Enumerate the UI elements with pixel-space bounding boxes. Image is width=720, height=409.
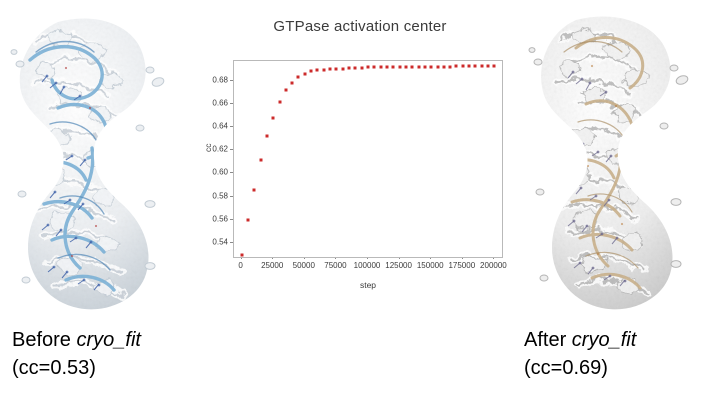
x-tick-label: 0 bbox=[238, 261, 242, 270]
data-point bbox=[474, 65, 477, 68]
data-point bbox=[303, 72, 306, 75]
after-caption-program: cryo_fit bbox=[572, 329, 636, 351]
x-tick-label: 75000 bbox=[324, 261, 346, 270]
data-point bbox=[367, 66, 370, 69]
after-structure-render bbox=[520, 8, 720, 318]
data-point bbox=[335, 68, 338, 71]
data-point bbox=[265, 135, 268, 138]
data-point bbox=[291, 82, 294, 85]
data-point bbox=[259, 158, 262, 161]
data-point bbox=[278, 100, 281, 103]
data-point bbox=[487, 65, 490, 68]
before-cryo-fit-structure bbox=[0, 8, 200, 318]
before-structure-render bbox=[0, 8, 200, 318]
data-point bbox=[436, 65, 439, 68]
x-tick-label: 175000 bbox=[448, 261, 475, 270]
data-point bbox=[455, 65, 458, 68]
x-tick-label: 150000 bbox=[417, 261, 444, 270]
after-caption-cc: (cc=0.69) bbox=[524, 354, 636, 382]
x-tick-label: 100000 bbox=[354, 261, 381, 270]
cc-vs-step-chart: GTPase activation center cc step 0.540.5… bbox=[205, 12, 515, 297]
data-point bbox=[430, 65, 433, 68]
data-point bbox=[354, 66, 357, 69]
data-point bbox=[404, 65, 407, 68]
before-caption: Before cryo_fit (cc=0.53) bbox=[12, 326, 141, 382]
data-point bbox=[385, 66, 388, 69]
data-point bbox=[373, 66, 376, 69]
after-cryo-fit-structure bbox=[520, 8, 720, 318]
after-caption-prefix: After bbox=[524, 329, 572, 351]
data-point bbox=[480, 65, 483, 68]
data-point bbox=[442, 65, 445, 68]
data-point bbox=[411, 65, 414, 68]
before-density-map bbox=[0, 8, 200, 318]
data-point bbox=[398, 66, 401, 69]
before-caption-program: cryo_fit bbox=[76, 329, 140, 351]
data-point bbox=[246, 218, 249, 221]
data-point bbox=[322, 68, 325, 71]
data-point bbox=[461, 65, 464, 68]
data-point bbox=[493, 65, 496, 68]
before-caption-prefix: Before bbox=[12, 329, 76, 351]
data-point bbox=[316, 69, 319, 72]
data-point bbox=[329, 68, 332, 71]
data-point bbox=[272, 116, 275, 119]
data-point bbox=[341, 67, 344, 70]
after-caption: After cryo_fit (cc=0.69) bbox=[524, 326, 636, 382]
plot-area bbox=[233, 60, 503, 258]
data-point bbox=[392, 66, 395, 69]
x-tick-label: 25000 bbox=[261, 261, 283, 270]
data-point bbox=[360, 66, 363, 69]
x-tick-label: 50000 bbox=[293, 261, 315, 270]
data-point bbox=[310, 70, 313, 73]
data-point bbox=[468, 65, 471, 68]
after-density-map bbox=[520, 8, 720, 318]
data-point bbox=[423, 65, 426, 68]
data-point bbox=[348, 66, 351, 69]
x-tick-label: 200000 bbox=[480, 261, 507, 270]
data-point bbox=[253, 188, 256, 191]
data-point bbox=[297, 76, 300, 79]
data-point bbox=[240, 253, 243, 256]
data-point bbox=[449, 65, 452, 68]
before-caption-cc: (cc=0.53) bbox=[12, 354, 141, 382]
data-point bbox=[284, 88, 287, 91]
data-point bbox=[379, 66, 382, 69]
data-point bbox=[417, 65, 420, 68]
x-tick-label: 125000 bbox=[385, 261, 412, 270]
